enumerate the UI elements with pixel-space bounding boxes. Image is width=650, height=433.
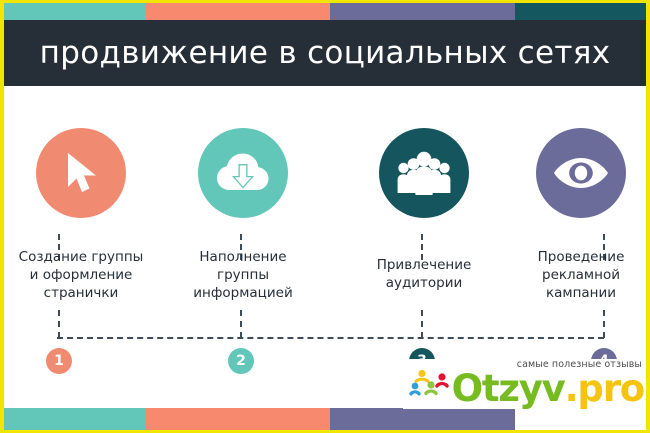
logo-name-primary: Otzyv: [452, 372, 565, 406]
step-label-4: Проведение рекламной кампании: [501, 248, 650, 302]
step-number-badge-2[interactable]: 2: [228, 348, 254, 374]
strip-segment-salmon: [146, 408, 330, 430]
step-number-text: 2: [236, 353, 246, 369]
strip-segment-salmon: [146, 3, 330, 20]
step-label-line: кампании: [501, 284, 650, 302]
step-number-badge-1[interactable]: 1: [46, 348, 72, 374]
step-label-line: информацией: [163, 284, 323, 302]
step-item-3[interactable]: Привлечение аудитории: [343, 86, 505, 376]
logo-wordmark-row: Otzyv .pro: [409, 368, 644, 409]
step-icon-circle-3[interactable]: [379, 128, 469, 218]
strip-segment-mint: [0, 408, 146, 430]
step-label-3: Привлечение аудитории: [344, 256, 504, 292]
step-label-line: и оформление: [1, 266, 161, 284]
step-label-line: рекламной: [501, 266, 650, 284]
frame-border-left: [0, 0, 4, 433]
frame-border-top: [0, 0, 650, 3]
strip-segment-dark-teal: [515, 3, 650, 20]
steps-container: Создание группы и оформление странички Н…: [0, 86, 650, 376]
cloud-download-icon: [216, 152, 270, 194]
step-label-line: Привлечение: [344, 256, 504, 274]
top-color-strip: [0, 3, 650, 20]
step-label-line: Создание группы: [1, 248, 161, 266]
strip-segment-purple: [330, 3, 515, 20]
step-icon-circle-4[interactable]: [536, 128, 626, 218]
step-label-line: группы: [163, 266, 323, 284]
header-band: продвижение в социальных сетях: [4, 20, 646, 86]
step-label-line: Проведение: [501, 248, 650, 266]
step-label-line: аудитории: [344, 274, 504, 292]
step-item-4[interactable]: Проведение рекламной кампании: [500, 86, 650, 376]
step-icon-circle-1[interactable]: [36, 128, 126, 218]
eye-icon: [552, 155, 610, 191]
step-label-line: странички: [1, 284, 161, 302]
page-title: продвижение в социальных сетях: [40, 35, 611, 71]
step-label-2: Наполнение группы информацией: [163, 248, 323, 302]
people-group-logo-icon: [409, 368, 449, 407]
strip-segment-white: [515, 408, 650, 430]
group-people-icon: [396, 151, 452, 195]
site-logo[interactable]: самые полезные отзывы Otzyv .pro: [403, 359, 644, 409]
strip-segment-mint: [0, 3, 146, 20]
logo-name-secondary: .pro: [565, 372, 644, 406]
step-item-1[interactable]: Создание группы и оформление странички: [0, 86, 162, 376]
step-item-2[interactable]: Наполнение группы информацией: [162, 86, 324, 376]
step-icon-circle-2[interactable]: [198, 128, 288, 218]
infographic-canvas: продвижение в социальных сетях Создание …: [0, 0, 650, 433]
frame-border-right: [646, 0, 650, 433]
strip-segment-purple: [330, 408, 515, 430]
cursor-pointer-icon: [59, 149, 103, 197]
step-number-text: 1: [54, 353, 64, 369]
step-label-line: Наполнение: [163, 248, 323, 266]
step-label-1: Создание группы и оформление странички: [1, 248, 161, 302]
bottom-color-strip: [0, 408, 650, 430]
